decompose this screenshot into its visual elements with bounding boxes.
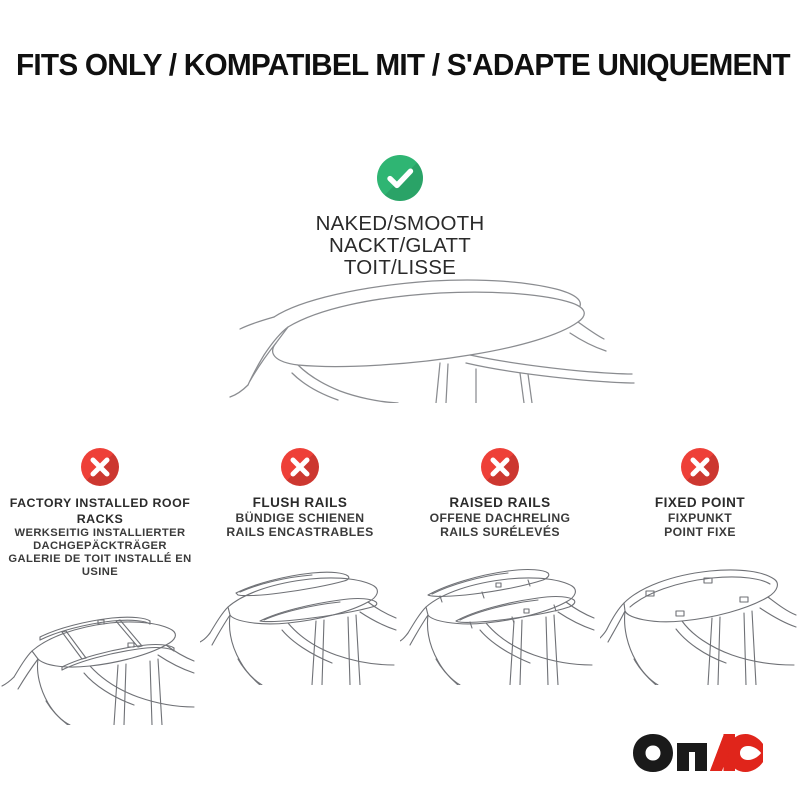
compatible-section: NAKED/SMOOTH NACKT/GLATT TOIT/LISSE — [0, 155, 800, 279]
item-label-line-2: BÜNDIGE SCHIENEN — [200, 511, 400, 525]
incompatible-item-flush-rails: FLUSH RAILS BÜNDIGE SCHIENEN RAILS ENCAS… — [200, 448, 400, 725]
item-labels: RAISED RAILS OFFENE DACHRELING RAILS SUR… — [400, 495, 600, 539]
item-label-line-3: RAILS SURÉLEVÉS — [400, 525, 600, 539]
incompatible-item-raised-rails: RAISED RAILS OFFENE DACHRELING RAILS SUR… — [400, 448, 600, 725]
omac-logo: OM AC — [632, 732, 764, 774]
compatible-labels: NAKED/SMOOTH NACKT/GLATT TOIT/LISSE — [0, 213, 800, 279]
car-roof-flush-rails-illustration — [200, 545, 400, 685]
item-label-line-3: RAILS ENCASTRABLES — [200, 525, 400, 539]
item-label-line-1: FLUSH RAILS — [200, 495, 400, 511]
x-circle-icon — [81, 448, 119, 486]
item-labels: FACTORY INSTALLED ROOF RACKS WERKSEITIG … — [0, 495, 200, 579]
item-label-line-3: DACHGEPÄCKTRÄGER — [0, 540, 200, 553]
incompatible-item-factory-roof-racks: FACTORY INSTALLED ROOF RACKS WERKSEITIG … — [0, 448, 200, 725]
item-label-line-1: RAISED RAILS — [400, 495, 600, 511]
item-label-line-2: FIXPUNKT — [600, 511, 800, 525]
item-labels: FIXED POINT FIXPUNKT POINT FIXE — [600, 495, 800, 539]
x-circle-icon — [681, 448, 719, 486]
compatible-label-en: NAKED/SMOOTH — [0, 213, 800, 235]
compatible-label-de: NACKT/GLATT — [0, 235, 800, 257]
item-label-line-4: GALERIE DE TOIT INSTALLÉ EN USINE — [0, 553, 200, 579]
incompatible-grid: FACTORY INSTALLED ROOF RACKS WERKSEITIG … — [0, 448, 800, 725]
item-label-line-2: OFFENE DACHRELING — [400, 511, 600, 525]
car-roof-fixed-point-illustration — [600, 545, 800, 685]
incompatible-item-fixed-point: FIXED POINT FIXPUNKT POINT FIXE — [600, 448, 800, 725]
car-roof-raised-rails-illustration — [400, 545, 600, 685]
car-roof-naked-smooth-illustration — [0, 273, 800, 403]
x-circle-icon — [481, 448, 519, 486]
x-circle-icon — [281, 448, 319, 486]
header: FITS ONLY / KOMPATIBEL MIT / S'ADAPTE UN… — [0, 48, 800, 82]
page-title: FITS ONLY / KOMPATIBEL MIT / S'ADAPTE UN… — [16, 48, 784, 82]
item-label-line-3: POINT FIXE — [600, 525, 800, 539]
check-circle-icon — [377, 155, 423, 201]
logo-text-red: AC — [764, 732, 765, 733]
item-labels: FLUSH RAILS BÜNDIGE SCHIENEN RAILS ENCAS… — [200, 495, 400, 539]
item-label-line-2: WERKSEITIG INSTALLIERTER — [0, 527, 200, 540]
logo-text-dark: OM — [764, 732, 765, 733]
item-label-line-1: FIXED POINT — [600, 495, 800, 511]
car-roof-factory-rack-illustration — [0, 585, 200, 725]
item-label-line-1: FACTORY INSTALLED ROOF RACKS — [0, 495, 200, 527]
